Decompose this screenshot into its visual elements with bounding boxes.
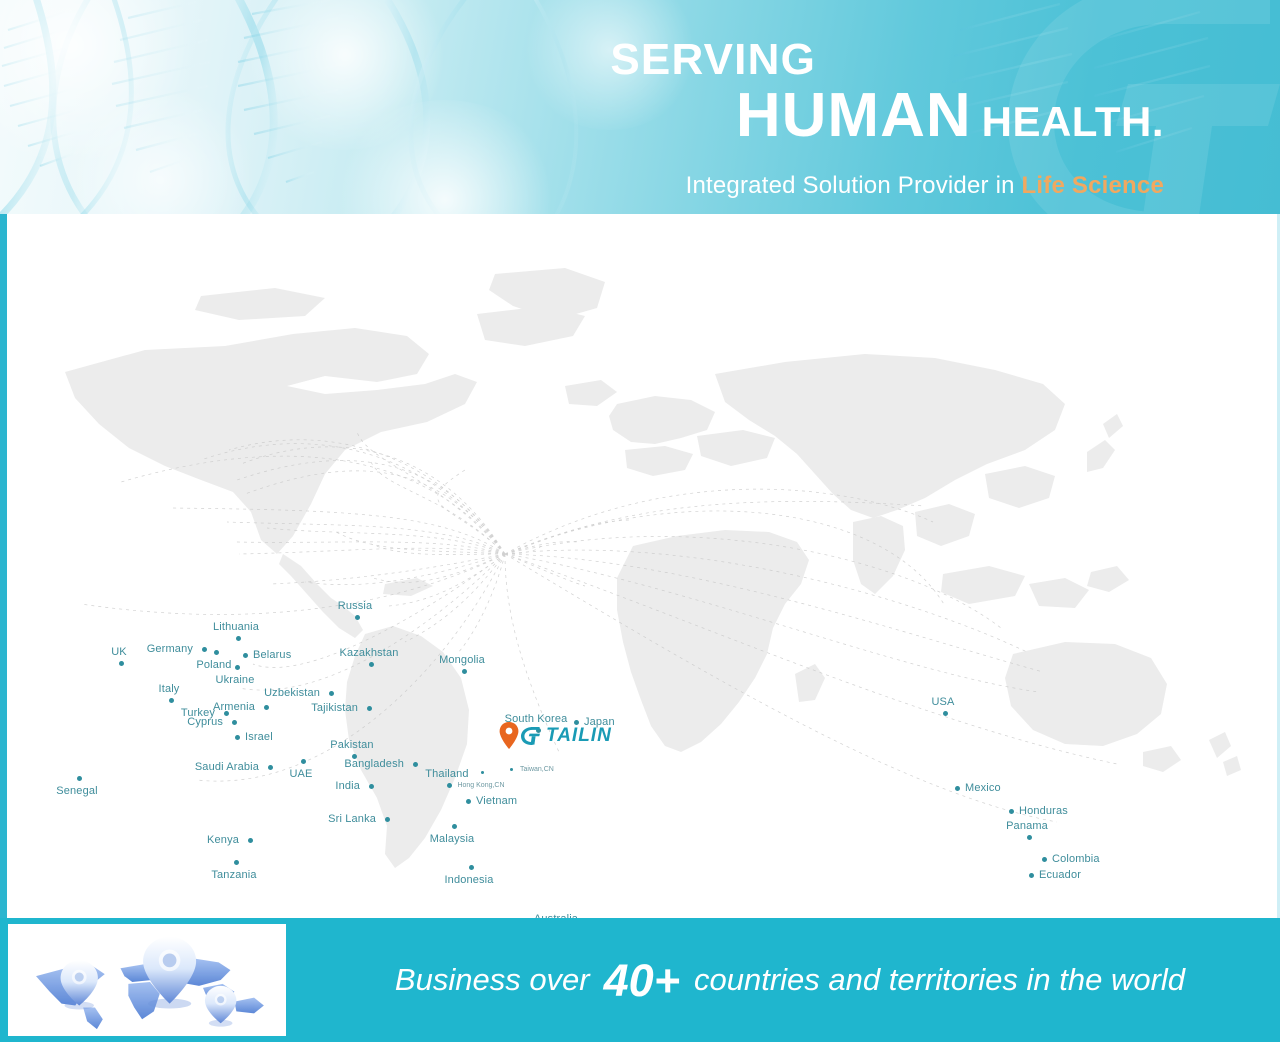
map-marker-dot-icon	[355, 615, 360, 620]
map-marker-label: Cyprus	[187, 716, 223, 728]
map-marker-dot-icon	[1009, 809, 1014, 814]
map-marker-label: Lithuania	[213, 621, 259, 633]
map-marker-label: Ukraine	[216, 674, 255, 686]
map-marker-label: India	[335, 780, 360, 792]
map-marker-dot-icon	[232, 720, 237, 725]
map-marker-label: Malaysia	[430, 833, 475, 845]
tailin-brand-marker[interactable]: TAILIN	[499, 722, 612, 750]
map-marker-dot-icon	[119, 661, 124, 666]
map-marker-dot-icon	[447, 783, 452, 788]
map-marker-label: Hong Kong,CN	[457, 780, 504, 792]
map-marker-label: Panama	[1006, 820, 1048, 832]
map-marker-label: Pakistan	[330, 739, 373, 751]
map-marker-label: UAE	[289, 768, 312, 780]
footer-text-after: countries and territories in the world	[694, 962, 1185, 998]
tailin-g-mark-icon	[519, 726, 541, 746]
map-marker-label: Belarus	[253, 649, 291, 661]
header-tagline: Integrated Solution Provider in Life Sci…	[0, 172, 1164, 200]
map-marker-dot-icon	[481, 771, 484, 774]
map-marker-label: Colombia	[1052, 853, 1100, 865]
header-text-block: SERVING HUMANHEALTH. Integrated Solution…	[0, 34, 1164, 200]
map-marker-dot-icon	[243, 653, 248, 658]
map-marker-dot-icon	[385, 817, 390, 822]
map-marker-dot-icon	[236, 636, 241, 641]
map-marker-dot-icon	[369, 784, 374, 789]
map-marker-dot-icon	[235, 735, 240, 740]
map-marker-dot-icon	[466, 799, 471, 804]
map-marker-label: Indonesia	[444, 874, 493, 886]
map-marker-label: Ecuador	[1039, 869, 1081, 881]
map-marker-label: Poland	[196, 659, 231, 671]
map-marker-dot-icon	[329, 691, 334, 696]
map-marker-dot-icon	[1027, 835, 1032, 840]
map-marker-dot-icon	[264, 705, 269, 710]
map-marker-dot-icon	[469, 865, 474, 870]
map-marker-label: Armenia	[213, 701, 255, 713]
map-marker-label: USA	[931, 696, 954, 708]
map-marker-label: Italy	[159, 683, 180, 695]
world-map-panel: UKGermanyLithuaniaBelarusPolandUkraineRu…	[0, 214, 1280, 918]
footer-banner: Business over 40+ countries and territor…	[0, 918, 1280, 1042]
world-map-pins-icon	[9, 925, 285, 1035]
map-marker-dot-icon	[1042, 857, 1047, 862]
map-marker-dot-icon	[77, 776, 82, 781]
map-marker-label: Kazakhstan	[340, 647, 399, 659]
header-line-1: SERVING	[0, 34, 1164, 86]
footer-text: Business over 40+ countries and territor…	[300, 918, 1280, 1042]
map-marker-label: Kenya	[207, 834, 239, 846]
map-marker-dot-icon	[234, 860, 239, 865]
map-marker-label: Russia	[338, 600, 373, 612]
world-map-graphic	[25, 254, 1269, 874]
map-marker-dot-icon	[214, 650, 219, 655]
map-marker-dot-icon	[202, 647, 207, 652]
map-marker-label: Tanzania	[211, 869, 256, 881]
header-line-2: HUMANHEALTH.	[0, 82, 1164, 166]
map-marker-dot-icon	[943, 711, 948, 716]
map-marker-label: Sri Lanka	[328, 813, 376, 825]
map-marker-label: Mongolia	[439, 654, 485, 666]
map-marker-label: Tajikistan	[311, 702, 358, 714]
map-marker-dot-icon	[462, 669, 467, 674]
map-marker-label: Saudi Arabia	[195, 761, 259, 773]
map-marker-label: Honduras	[1019, 805, 1068, 817]
map-marker-label: Vietnam	[476, 795, 517, 807]
map-marker-dot-icon	[452, 824, 457, 829]
map-marker-label: Mexico	[965, 782, 1001, 794]
map-marker-label: UK	[111, 646, 127, 658]
map-marker-dot-icon	[413, 762, 418, 767]
header-word-health: HEALTH.	[982, 98, 1164, 145]
map-marker-dot-icon	[367, 706, 372, 711]
map-marker-dot-icon	[369, 662, 374, 667]
map-marker-dot-icon	[510, 768, 513, 771]
header-word-human: HUMAN	[736, 81, 972, 150]
map-marker-dot-icon	[248, 838, 253, 843]
footer-count: 40+	[604, 958, 680, 1003]
tailin-brand-name: TAILIN	[546, 726, 612, 746]
tagline-plain: Integrated Solution Provider in	[686, 172, 1022, 199]
map-marker-label: Thailand	[425, 768, 468, 780]
map-marker-dot-icon	[169, 698, 174, 703]
map-marker-label: Senegal	[56, 785, 97, 797]
map-marker-label: Bangladesh	[344, 758, 404, 770]
map-marker-dot-icon	[301, 759, 306, 764]
map-marker-dot-icon	[1029, 873, 1034, 878]
map-marker-dot-icon	[268, 765, 273, 770]
world-map-pins-thumbnail	[8, 924, 286, 1036]
map-marker-dot-icon	[955, 786, 960, 791]
header-banner: SERVING HUMANHEALTH. Integrated Solution…	[0, 0, 1280, 214]
map-marker-label: Uzbekistan	[264, 687, 320, 699]
map-marker-label: Germany	[147, 643, 193, 655]
map-marker-label: Taiwan,CN	[520, 764, 554, 776]
tagline-accent: Life Science	[1022, 172, 1164, 199]
location-pin-icon	[499, 722, 519, 750]
footer-text-before: Business over	[395, 962, 590, 998]
map-marker-label: Israel	[245, 731, 273, 743]
map-marker-dot-icon	[235, 665, 240, 670]
map-stage: UKGermanyLithuaniaBelarusPolandUkraineRu…	[7, 214, 1277, 918]
